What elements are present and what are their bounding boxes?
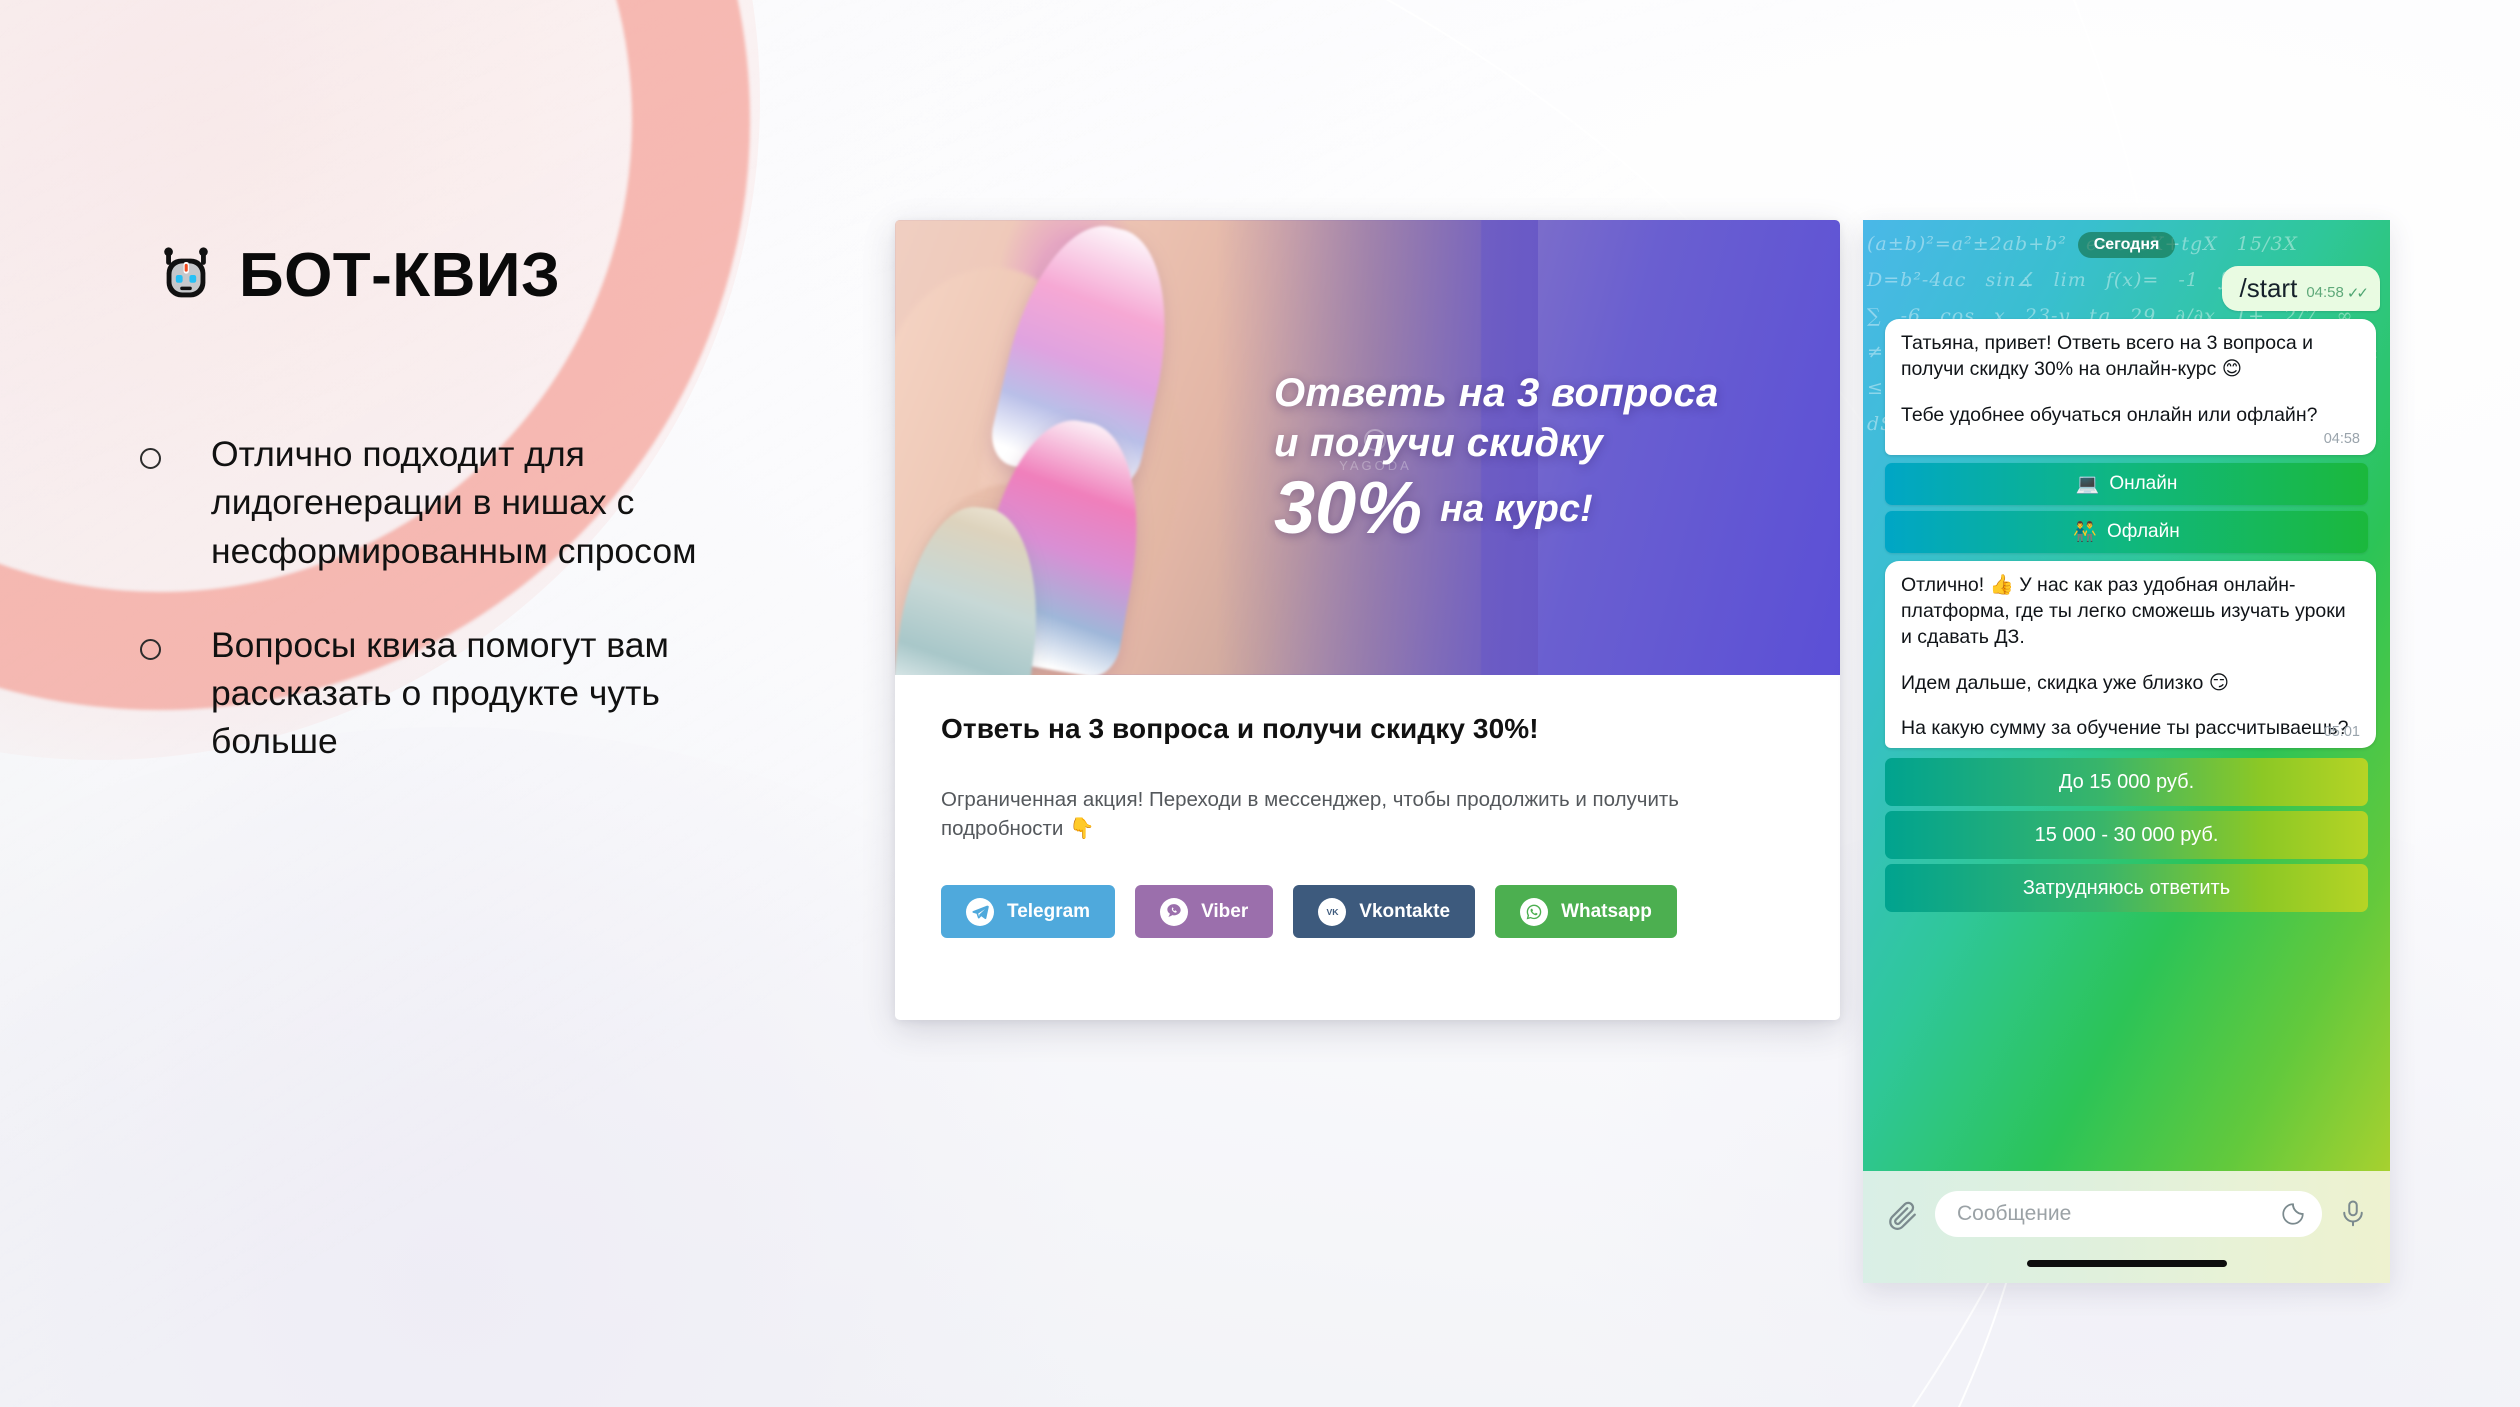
promo-card-hero: YAGODA Ответь на 3 вопроса и получи скид…: [895, 220, 1840, 675]
vkontakte-button-label: Vkontakte: [1359, 901, 1450, 923]
quick-reply-budget-low-button[interactable]: До 15 000 руб.: [1885, 758, 2368, 806]
promo-card-description: Ограниченная акция! Переходи в мессендже…: [941, 785, 1761, 843]
message-paragraph: Отлично! 👍 У нас как раз удобная онлайн-…: [1901, 573, 2360, 651]
slide-title-row: БОТ-КВИЗ: [155, 240, 560, 311]
message-paragraph: На какую сумму за обучение ты рассчитыва…: [1901, 716, 2360, 742]
promo-card-title: Ответь на 3 вопроса и получи скидку 30%!: [941, 713, 1794, 745]
whatsapp-button-label: Whatsapp: [1561, 901, 1652, 923]
incoming-message-bubble[interactable]: Отлично! 👍 У нас как раз удобная онлайн-…: [1885, 561, 2376, 749]
promo-card: YAGODA Ответь на 3 вопроса и получи скид…: [895, 220, 1840, 1020]
viber-button-label: Viber: [1201, 901, 1248, 923]
outgoing-message-text: /start: [2240, 273, 2298, 304]
two-people-icon: 👬: [2073, 520, 2097, 544]
bullet-circle-icon: [140, 448, 161, 469]
message-input-placeholder: Сообщение: [1957, 1202, 2071, 1226]
bullet-list: Отлично подходит для лидогенерации в ниш…: [140, 430, 840, 812]
telegram-icon: [966, 898, 994, 926]
quick-reply-offline-label: Офлайн: [2107, 521, 2180, 543]
outgoing-message-bubble[interactable]: /start 04:58 ✓✓: [2222, 266, 2380, 311]
robot-icon: [155, 245, 217, 307]
viber-icon: [1160, 898, 1188, 926]
page-title: БОТ-КВИЗ: [239, 240, 560, 311]
microphone-icon[interactable]: [2338, 1197, 2368, 1231]
hero-course-label: на курс!: [1440, 488, 1593, 545]
message-paragraph: Идем дальше, скидка уже близко 😏: [1901, 671, 2360, 697]
list-item: Вопросы квиза помогут вам рассказать о п…: [140, 621, 840, 766]
read-receipt-icon: ✓✓: [2347, 284, 2366, 302]
vk-icon: VK: [1318, 898, 1346, 926]
message-paragraph: Татьяна, привет! Ответь всего на 3 вопро…: [1901, 331, 2360, 383]
list-item: Отлично подходит для лидогенерации в ниш…: [140, 430, 840, 575]
quick-reply-keyboard-2: До 15 000 руб. 15 000 - 30 000 руб. Затр…: [1885, 758, 2368, 912]
message-input-field[interactable]: Сообщение: [1935, 1191, 2322, 1237]
quick-reply-online-button[interactable]: 💻 Онлайн: [1885, 463, 2368, 505]
messenger-button-group: Telegram Viber VK Vkontakte Whatsapp: [941, 885, 1794, 938]
paperclip-icon[interactable]: [1885, 1197, 1919, 1231]
svg-text:VK: VK: [1326, 907, 1339, 917]
whatsapp-icon: [1520, 898, 1548, 926]
quick-reply-budget-mid-button[interactable]: 15 000 - 30 000 руб.: [1885, 811, 2368, 859]
hero-line-1: Ответь на 3 вопроса: [1274, 368, 1814, 418]
bullet-text: Отлично подходит для лидогенерации в ниш…: [211, 430, 771, 575]
hero-line-3: 30% на курс!: [1274, 471, 1814, 545]
promo-card-body: Ответь на 3 вопроса и получи скидку 30%!…: [895, 675, 1840, 938]
telegram-button-label: Telegram: [1007, 901, 1090, 923]
telegram-button[interactable]: Telegram: [941, 885, 1115, 938]
hero-line-2: и получи скидку: [1274, 418, 1814, 468]
quick-reply-offline-button[interactable]: 👬 Офлайн: [1885, 511, 2368, 553]
outgoing-message-time: 04:58: [2306, 284, 2344, 301]
outgoing-message-row: /start 04:58 ✓✓: [1873, 266, 2380, 311]
whatsapp-button[interactable]: Whatsapp: [1495, 885, 1677, 938]
laptop-icon: 💻: [2076, 472, 2100, 496]
left-content-column: БОТ-КВИЗ Отлично подходит для лидогенера…: [0, 0, 880, 1407]
sticker-icon[interactable]: [2280, 1201, 2306, 1227]
quick-reply-budget-unsure-button[interactable]: Затрудняюсь ответить: [1885, 864, 2368, 912]
incoming-message-bubble[interactable]: Татьяна, привет! Ответь всего на 3 вопро…: [1885, 319, 2376, 455]
bullet-text: Вопросы квиза помогут вам рассказать о п…: [211, 621, 771, 766]
telegram-chat-panel: (a±b)²=a²±2ab+b² e=cosX+tgX 15/3X D=b²-4…: [1863, 220, 2390, 1283]
date-separator: Сегодня: [2078, 232, 2176, 258]
vkontakte-button[interactable]: VK Vkontakte: [1293, 885, 1475, 938]
quick-reply-online-label: Онлайн: [2109, 473, 2177, 495]
outgoing-message-meta: 04:58 ✓✓: [2306, 284, 2366, 302]
message-time: 04:58: [1901, 431, 2360, 447]
home-indicator: [2027, 1260, 2227, 1267]
bullet-circle-icon: [140, 639, 161, 660]
chat-message-list: Сегодня /start 04:58 ✓✓ Татьяна, привет!…: [1863, 220, 2390, 912]
message-paragraph: Тебе удобнее обучаться онлайн или офлайн…: [1901, 403, 2360, 429]
hero-copy: Ответь на 3 вопроса и получи скидку 30% …: [1274, 368, 1814, 545]
quick-reply-keyboard-1: 💻 Онлайн 👬 Офлайн: [1885, 463, 2368, 553]
hero-discount-percent: 30%: [1274, 471, 1422, 545]
viber-button[interactable]: Viber: [1135, 885, 1273, 938]
